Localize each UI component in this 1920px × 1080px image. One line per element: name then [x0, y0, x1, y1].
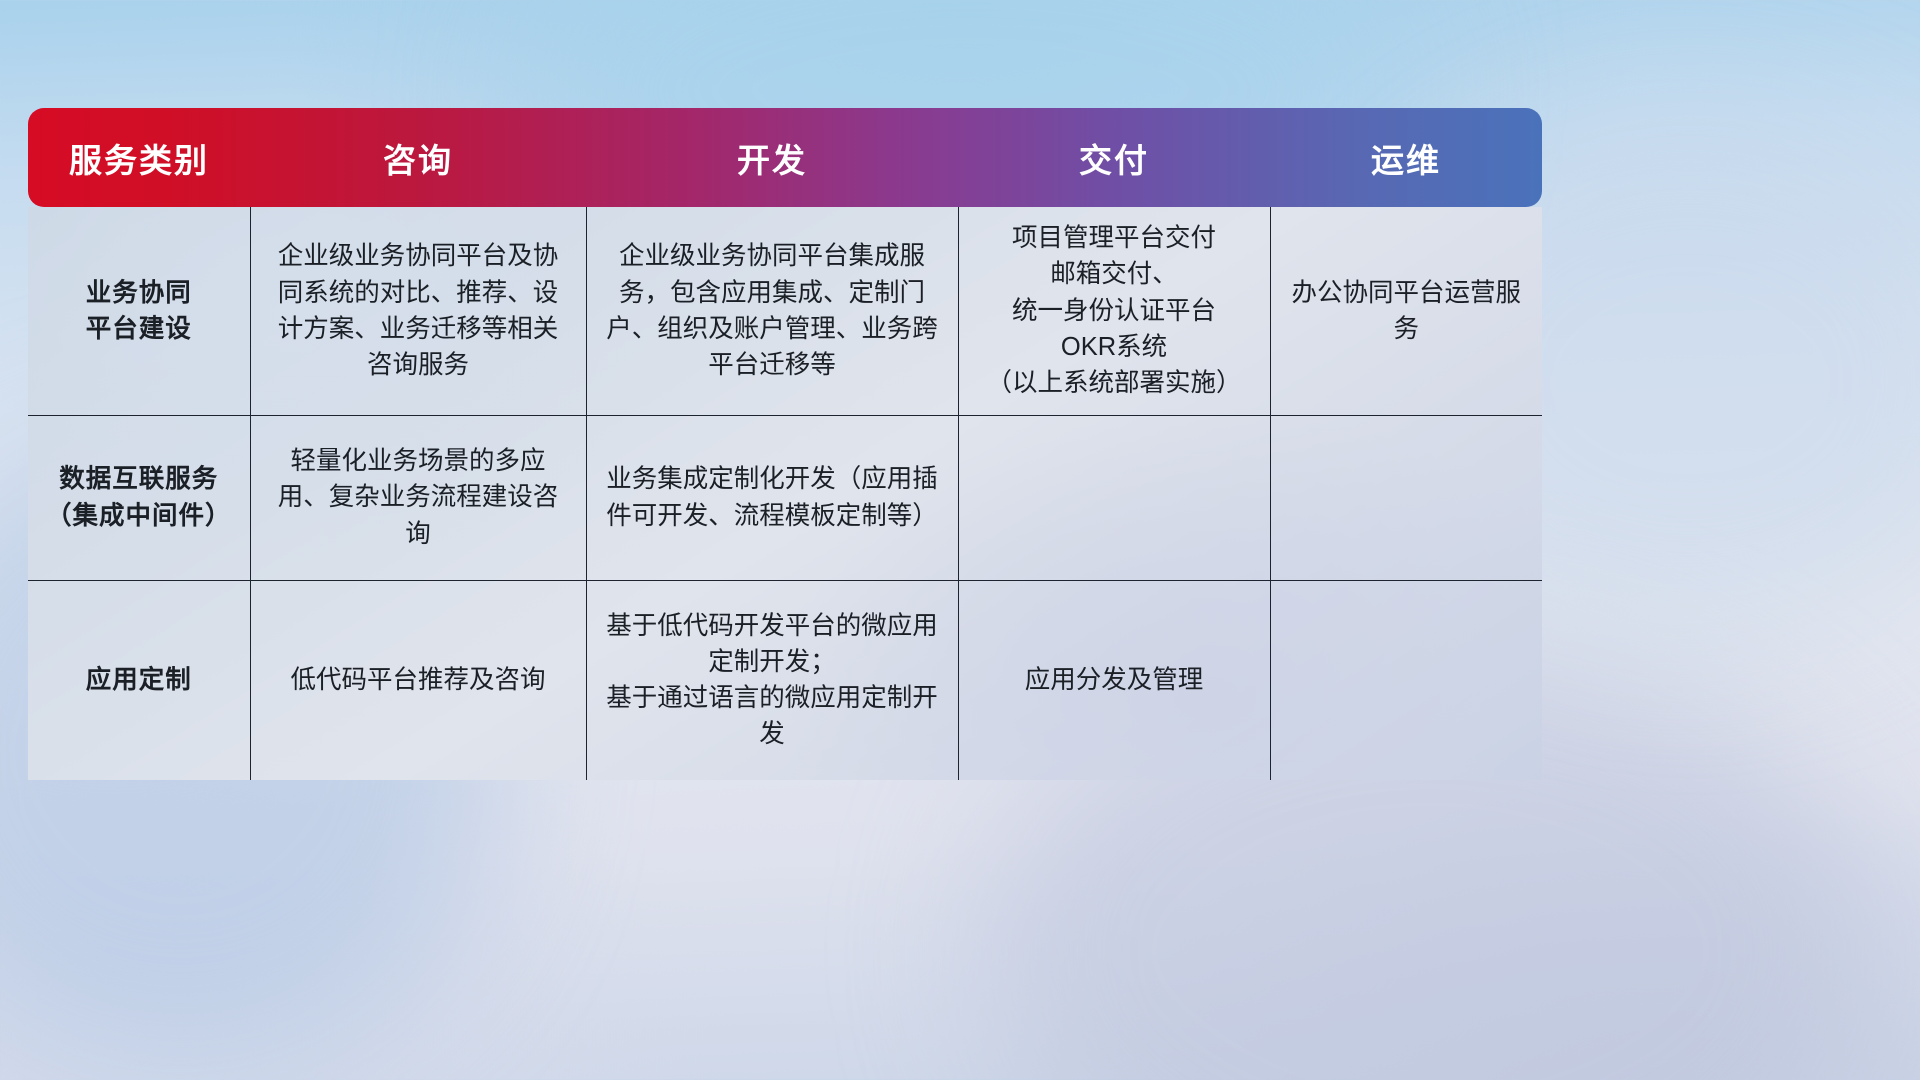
row-category-1-line-1: 业务协同 [44, 275, 234, 311]
header-cell-delivery: 交付 [958, 108, 1270, 207]
cell-r2-consulting: 轻量化业务场景的多应用、复杂业务流程建设咨询 [250, 415, 586, 580]
table-row: 业务协同 平台建设 企业级业务协同平台及协同系统的对比、推荐、设计方案、业务迁移… [28, 207, 1542, 415]
cell-r1-delivery: 项目管理平台交付 邮箱交付、 统一身份认证平台 OKR系统 （以上系统部署实施） [958, 207, 1270, 415]
header-cell-development: 开发 [586, 108, 958, 207]
table-row: 数据互联服务 （集成中间件） 轻量化业务场景的多应用、复杂业务流程建设咨询 业务… [28, 415, 1542, 580]
header-label-operations: 运维 [1371, 142, 1441, 179]
service-matrix-table: 服务类别 咨询 开发 交付 运维 业务协同 平台建设 [28, 108, 1542, 780]
header-cell-operations: 运维 [1270, 108, 1542, 207]
table-header: 服务类别 咨询 开发 交付 运维 [28, 108, 1542, 207]
cell-r1-delivery-line-3: 统一身份认证平台 [975, 293, 1254, 329]
cell-r1-development: 企业级业务协同平台集成服务，包含应用集成、定制门户、组织及账户管理、业务跨平台迁… [586, 207, 958, 415]
table-body: 业务协同 平台建设 企业级业务协同平台及协同系统的对比、推荐、设计方案、业务迁移… [28, 207, 1542, 780]
cell-r3-delivery: 应用分发及管理 [958, 580, 1270, 780]
cell-r3-development-line-1: 基于低代码开发平台的微应用定制开发； [603, 608, 942, 680]
row-category-2-line-2: （集成中间件） [44, 498, 234, 534]
row-category-1-line-2: 平台建设 [44, 311, 234, 347]
cell-r1-delivery-line-4: OKR系统 [975, 329, 1254, 365]
cell-r1-consulting: 企业级业务协同平台及协同系统的对比、推荐、设计方案、业务迁移等相关咨询服务 [250, 207, 586, 415]
row-category-3-line-1: 应用定制 [44, 662, 234, 698]
row-category-1: 业务协同 平台建设 [28, 207, 250, 415]
cell-r1-delivery-line-5: （以上系统部署实施） [975, 365, 1254, 401]
cell-r2-operations [1270, 415, 1542, 580]
cell-r3-operations [1270, 580, 1542, 780]
row-category-2-line-1: 数据互联服务 [44, 461, 234, 497]
cell-r2-development: 业务集成定制化开发（应用插件可开发、流程模板定制等） [586, 415, 958, 580]
header-cell-category: 服务类别 [28, 108, 250, 207]
header-label-consulting: 咨询 [383, 142, 453, 179]
cell-r3-consulting: 低代码平台推荐及咨询 [250, 580, 586, 780]
table-header-row: 服务类别 咨询 开发 交付 运维 [28, 108, 1542, 207]
header-label-development: 开发 [737, 142, 807, 179]
table-row: 应用定制 低代码平台推荐及咨询 基于低代码开发平台的微应用定制开发； 基于通过语… [28, 580, 1542, 780]
service-matrix: 服务类别 咨询 开发 交付 运维 业务协同 平台建设 [28, 108, 1542, 780]
header-label-category: 服务类别 [69, 142, 209, 179]
cell-r2-delivery [958, 415, 1270, 580]
header-cell-consulting: 咨询 [250, 108, 586, 207]
cell-r1-delivery-line-1: 项目管理平台交付 [975, 220, 1254, 256]
cell-r3-development: 基于低代码开发平台的微应用定制开发； 基于通过语言的微应用定制开发 [586, 580, 958, 780]
row-category-3: 应用定制 [28, 580, 250, 780]
cell-r1-delivery-line-2: 邮箱交付、 [975, 256, 1254, 292]
cell-r3-development-line-2: 基于通过语言的微应用定制开发 [603, 680, 942, 752]
header-label-delivery: 交付 [1079, 142, 1149, 179]
row-category-2: 数据互联服务 （集成中间件） [28, 415, 250, 580]
cell-r1-operations: 办公协同平台运营服务 [1270, 207, 1542, 415]
